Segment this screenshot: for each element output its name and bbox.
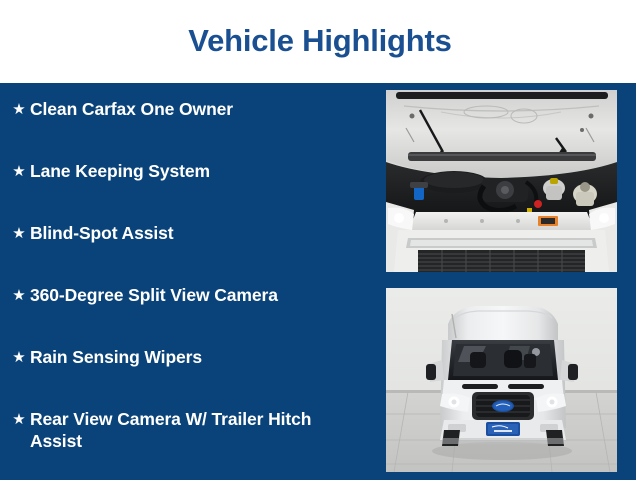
list-item: ★ Rain Sensing Wipers: [8, 343, 376, 405]
list-item: ★ Rear View Camera W/ Trailer Hitch Assi…: [8, 405, 376, 467]
star-icon: ★: [8, 405, 30, 432]
star-icon: ★: [8, 157, 30, 184]
highlight-label: Lane Keeping System: [30, 157, 210, 182]
highlight-label: 360-Degree Split View Camera: [30, 281, 278, 306]
engine-bay-photo: [386, 90, 617, 272]
star-icon: ★: [8, 219, 30, 246]
star-icon: ★: [8, 343, 30, 370]
star-icon: ★: [8, 281, 30, 308]
front-view-illustration: [386, 288, 617, 472]
highlight-label: Blind-Spot Assist: [30, 219, 174, 244]
list-item: ★ Lane Keeping System: [8, 157, 376, 219]
slide-header: Vehicle Highlights: [0, 0, 640, 83]
highlight-label: Rain Sensing Wipers: [30, 343, 202, 368]
list-item: ★ Clean Carfax One Owner: [8, 95, 376, 157]
highlight-label: Clean Carfax One Owner: [30, 95, 233, 120]
list-item: ★ 360-Degree Split View Camera: [8, 281, 376, 343]
star-icon: ★: [8, 95, 30, 122]
front-view-photo: [386, 288, 617, 472]
highlight-label: Rear View Camera W/ Trailer Hitch Assist: [30, 405, 340, 452]
vehicle-highlights-list: ★ Clean Carfax One Owner ★ Lane Keeping …: [8, 95, 376, 475]
page-title: Vehicle Highlights: [188, 25, 451, 58]
engine-bay-illustration: [386, 90, 617, 272]
photo-column: [386, 90, 617, 472]
list-item: ★ Blind-Spot Assist: [8, 219, 376, 281]
highlights-panel: ★ Clean Carfax One Owner ★ Lane Keeping …: [0, 83, 636, 480]
vehicle-highlights-slide: Vehicle Highlights ★ Clean Carfax One Ow…: [0, 0, 640, 480]
